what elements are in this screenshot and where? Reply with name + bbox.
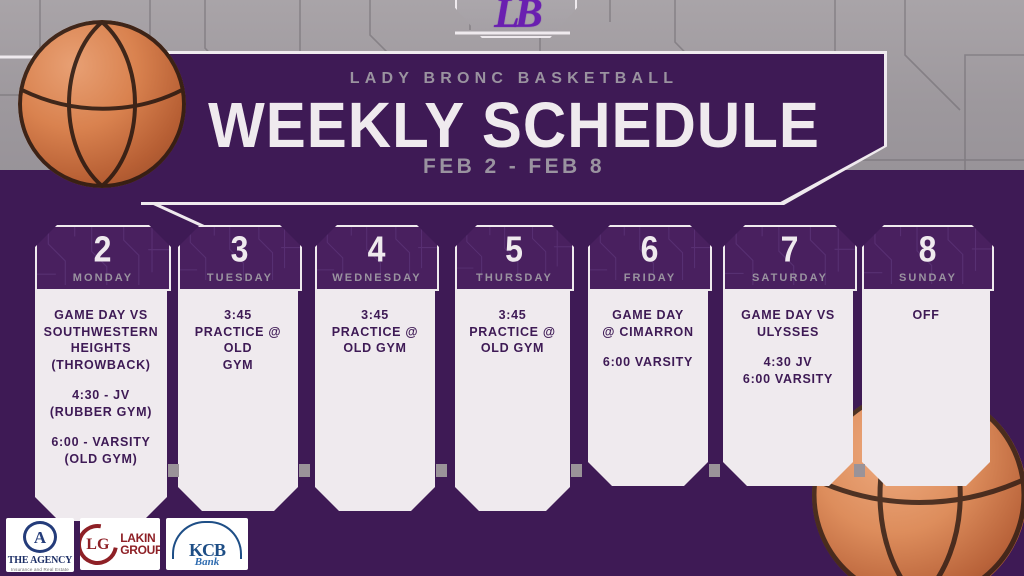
basketball-icon-top: [18, 20, 186, 188]
schedule-graphic: LB LADY BRONC BASKETBALL WEEKLY SCHEDULE…: [0, 0, 1024, 576]
card-gap-marker: [709, 464, 720, 477]
day-card-header: 3TUESDAY: [178, 225, 302, 291]
day-number: 6: [590, 229, 710, 270]
day-name: MONDAY: [37, 272, 169, 284]
day-number: 8: [864, 229, 992, 270]
day-name: THURSDAY: [457, 272, 572, 284]
day-name: TUESDAY: [180, 272, 300, 284]
day-number: 2: [37, 229, 169, 270]
day-card-body: 3:45 PRACTICE @ OLD GYM: [315, 291, 435, 511]
day-number: 3: [180, 229, 300, 270]
day-card-monday[interactable]: 2MONDAYGAME DAY VS SOUTHWESTERN HEIGHTS …: [35, 225, 167, 521]
card-gap-marker: [168, 464, 179, 477]
day-name: SUNDAY: [864, 272, 992, 284]
day-number: 7: [725, 229, 855, 270]
agency-monogram-icon: A: [23, 521, 57, 553]
agency-name: THE AGENCY: [8, 555, 72, 566]
card-gap-marker: [299, 464, 310, 477]
day-card-body: GAME DAY VS SOUTHWESTERN HEIGHTS (THROWB…: [35, 291, 167, 521]
day-card-body: GAME DAY @ CIMARRON6:00 VARSITY: [588, 291, 708, 486]
schedule-entry: 6:00 VARSITY: [588, 354, 708, 371]
day-card-tuesday[interactable]: 3TUESDAY3:45 PRACTICE @ OLD GYM: [178, 225, 298, 511]
schedule-entry: GAME DAY @ CIMARRON: [588, 307, 708, 340]
card-gap-marker: [436, 464, 447, 477]
card-gap-marker: [571, 464, 582, 477]
day-card-wednesday[interactable]: 4WEDNESDAY3:45 PRACTICE @ OLD GYM: [315, 225, 435, 511]
day-card-header: 8SUNDAY: [862, 225, 994, 291]
sponsor-logo-the-agency: A THE AGENCY Insurance and Real Estate: [6, 518, 74, 572]
lakin-line2: GROUP: [120, 544, 160, 556]
day-card-header: 6FRIDAY: [588, 225, 712, 291]
schedule-entry: 3:45 PRACTICE @ OLD GYM: [178, 307, 298, 373]
day-name: SATURDAY: [725, 272, 855, 284]
header-kicker: LADY BRONC BASKETBALL: [144, 70, 884, 88]
kcb-monogram: KCB: [189, 541, 225, 559]
day-card-header: 7SATURDAY: [723, 225, 857, 291]
sponsor-logo-kcb-bank: KCB Bank: [166, 518, 248, 570]
day-card-saturday[interactable]: 7SATURDAYGAME DAY VS ULYSSES4:30 JV 6:00…: [723, 225, 853, 486]
day-name: FRIDAY: [590, 272, 710, 284]
day-card-body: 3:45 PRACTICE @ OLD GYM: [455, 291, 570, 511]
day-number: 4: [317, 229, 437, 270]
schedule-entry: 6:00 - VARSITY (OLD GYM): [35, 434, 167, 467]
sponsor-logo-row: A THE AGENCY Insurance and Real Estate L…: [6, 518, 248, 572]
day-card-header: 4WEDNESDAY: [315, 225, 439, 291]
schedule-entry: 3:45 PRACTICE @ OLD GYM: [455, 307, 570, 357]
day-name: WEDNESDAY: [317, 272, 437, 284]
day-card-sunday[interactable]: 8SUNDAYOFF: [862, 225, 990, 486]
day-card-friday[interactable]: 6FRIDAYGAME DAY @ CIMARRON6:00 VARSITY: [588, 225, 708, 486]
schedule-entry: GAME DAY VS ULYSSES: [723, 307, 853, 340]
day-card-body: 3:45 PRACTICE @ OLD GYM: [178, 291, 298, 511]
kcb-arch-icon: KCB: [172, 521, 242, 559]
page-title: WEEKLY SCHEDULE: [144, 88, 884, 162]
day-card-body: GAME DAY VS ULYSSES4:30 JV 6:00 VARSITY: [723, 291, 853, 486]
card-gap-marker: [854, 464, 865, 477]
schedule-entry: OFF: [862, 307, 990, 324]
day-card-body: OFF: [862, 291, 990, 486]
schedule-entry: 4:30 JV 6:00 VARSITY: [723, 354, 853, 387]
day-card-header: 5THURSDAY: [455, 225, 574, 291]
day-card-header: 2MONDAY: [35, 225, 171, 291]
day-number: 5: [457, 229, 572, 270]
schedule-entry: 4:30 - JV (RUBBER GYM): [35, 387, 167, 420]
agency-tagline: Insurance and Real Estate: [11, 567, 69, 572]
day-card-thursday[interactable]: 5THURSDAY3:45 PRACTICE @ OLD GYM: [455, 225, 570, 511]
schedule-entry: GAME DAY VS SOUTHWESTERN HEIGHTS (THROWB…: [35, 307, 167, 373]
schedule-entry: 3:45 PRACTICE @ OLD GYM: [315, 307, 435, 357]
header-date-range: FEB 2 - FEB 8: [144, 155, 884, 179]
sponsor-logo-lakin-group: LG LAKIN GROUP: [80, 518, 160, 570]
